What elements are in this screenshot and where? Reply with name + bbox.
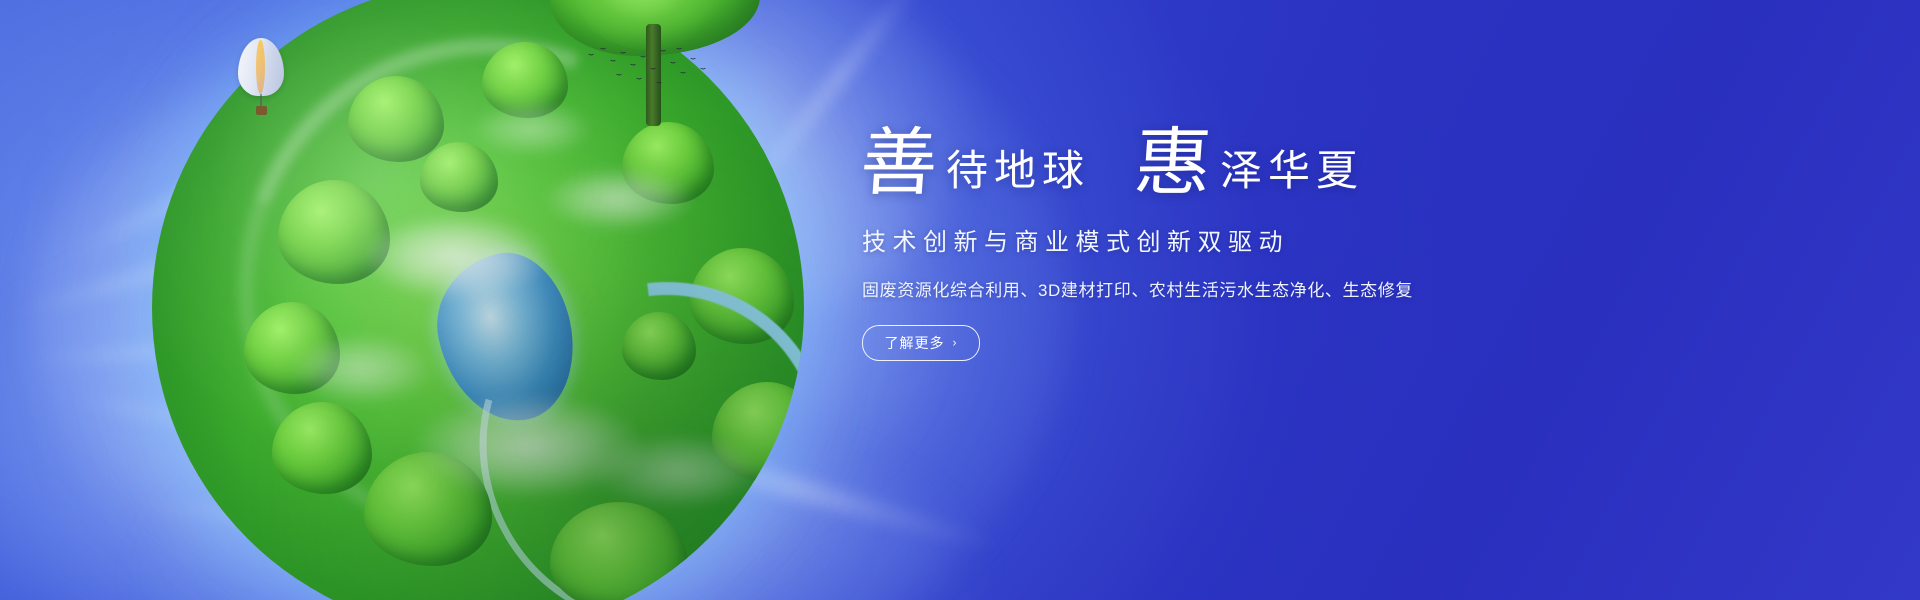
headline-text-1: 待地球	[940, 151, 1090, 198]
tree-icon	[272, 402, 372, 494]
headline: 善 待地球 惠 泽华夏	[862, 130, 1482, 198]
bird-flock-icon	[586, 46, 716, 92]
balloon-basket	[256, 106, 267, 115]
mist-cloud	[414, 394, 644, 498]
banner-content: 善 待地球 惠 泽华夏 技术创新与商业模式创新双驱动 固废资源化综合利用、3D建…	[862, 130, 1482, 361]
tree-icon	[622, 122, 714, 204]
mist-cloud	[292, 334, 432, 404]
mist-cloud	[592, 434, 762, 508]
hot-air-balloon-icon	[238, 38, 284, 120]
hero-banner: 善 待地球 惠 泽华夏 技术创新与商业模式创新双驱动 固废资源化综合利用、3D建…	[0, 0, 1920, 600]
tree-icon	[348, 76, 444, 162]
mist-cloud	[472, 102, 592, 156]
learn-more-button[interactable]: 了解更多 ›	[862, 325, 980, 361]
tree-icon	[278, 180, 390, 284]
mist-cloud	[362, 214, 552, 300]
balloon-stripe	[256, 40, 265, 94]
learn-more-label: 了解更多	[885, 333, 945, 353]
tree-icon	[482, 42, 568, 118]
chevron-right-icon: ›	[953, 336, 958, 350]
headline-char-1: 善	[858, 130, 944, 198]
lake-shape	[424, 242, 588, 434]
tree-icon	[244, 302, 340, 394]
tree-icon	[364, 452, 492, 566]
tree-icon	[420, 142, 498, 212]
tree-icon	[690, 248, 794, 344]
tree-icon	[622, 312, 696, 380]
headline-char-2: 惠	[1132, 130, 1218, 198]
headline-text-2: 泽华夏	[1214, 151, 1364, 198]
subtitle: 技术创新与商业模式创新双驱动	[862, 222, 1482, 257]
mist-cloud	[544, 168, 694, 230]
description: 固废资源化综合利用、3D建材打印、农村生活污水生态净化、生态修复	[862, 276, 1482, 301]
